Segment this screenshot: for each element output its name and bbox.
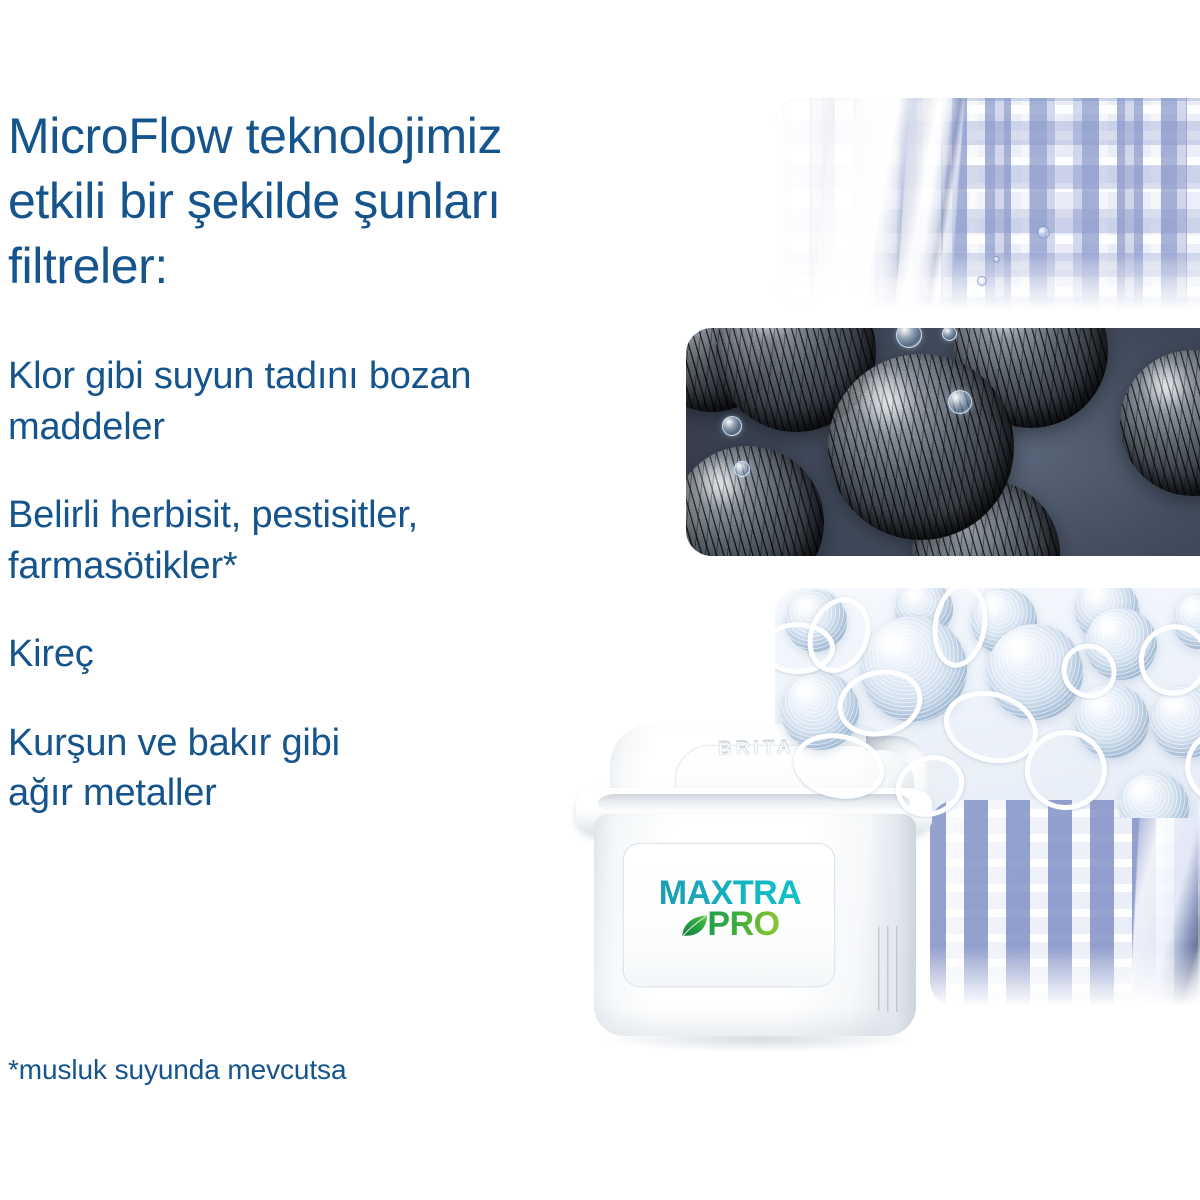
bubble-icon xyxy=(722,416,742,436)
image-panel-activated-carbon xyxy=(686,328,1200,556)
image-panel-ion-exchange-resin xyxy=(775,588,1200,818)
resin-bead xyxy=(1119,772,1189,818)
logo-second-row: PRO xyxy=(650,907,810,941)
image-panel-mesh-weave-top xyxy=(775,98,1200,310)
product-cartridge: BRITA MAXTRA xyxy=(566,716,946,1046)
bubble-icon xyxy=(734,461,750,477)
list-item: Belirli herbisit, pestisitler, farmasöti… xyxy=(8,490,728,591)
promo-page: MicroFlow teknolojimiz etkili bir şekild… xyxy=(0,0,1200,1200)
text-column: MicroFlow teknolojimiz etkili bir şekild… xyxy=(8,104,728,819)
footnote: *musluk suyunda mevcutsa xyxy=(8,1053,346,1087)
list-item: Klor gibi suyun tadını bozan maddeler xyxy=(8,351,728,452)
page-title: MicroFlow teknolojimiz etkili bir şekild… xyxy=(8,104,728,299)
carbon-sphere-main xyxy=(828,354,1014,540)
carbon-sphere xyxy=(1120,350,1200,496)
bubble-icon xyxy=(977,276,987,286)
list-item: Kireç xyxy=(8,629,728,680)
bubble-icon xyxy=(993,256,1000,263)
edge-fade-bottom xyxy=(775,250,1200,310)
bubble-icon xyxy=(1037,226,1050,239)
maxtra-pro-logo: MAXTRA PRO xyxy=(650,876,810,941)
cartridge-collar-inner xyxy=(598,794,910,812)
edge-fade-bottom xyxy=(930,946,1200,1006)
cartridge-vents xyxy=(878,926,904,1012)
leaf-icon xyxy=(680,914,710,938)
bubble-icon xyxy=(896,328,922,348)
logo-pro-text: PRO xyxy=(707,907,779,941)
carbon-sphere xyxy=(686,446,824,556)
brita-emboss-text: BRITA xyxy=(718,737,795,761)
image-panel-mesh-weave-bottom xyxy=(930,800,1200,1006)
bubble-icon xyxy=(948,390,972,414)
